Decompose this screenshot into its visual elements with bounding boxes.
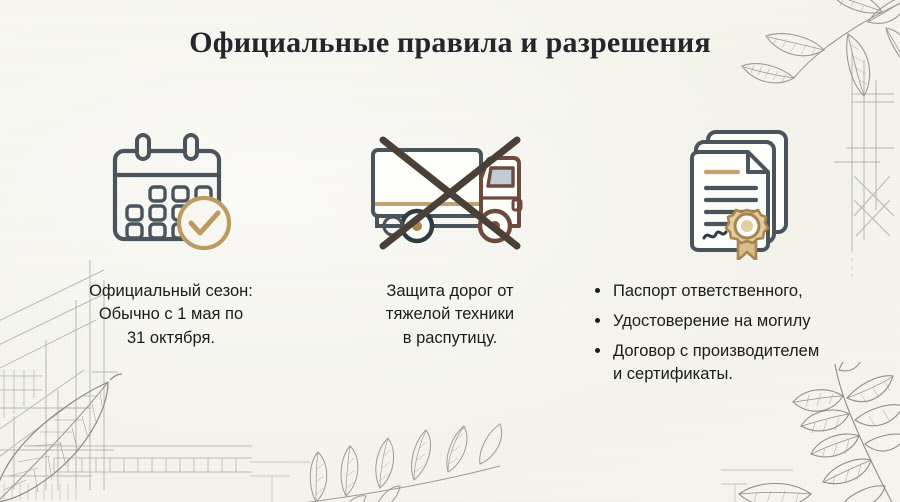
list-item: Удостоверение на могилу: [594, 310, 880, 333]
caption-road-protection: Защита дорог от тяжелой техники в распут…: [386, 280, 514, 350]
leaf-branch-top-right-icon: [740, 0, 900, 134]
calendar-check-icon-wrap: [103, 118, 239, 268]
certificate-documents-icon: [676, 126, 798, 260]
list-item-label: Договор с производителем и сертификаты.: [613, 340, 819, 386]
column-season: Официальный сезон: Обычно с 1 мая по 31 …: [36, 118, 306, 350]
calendar-check-icon: [103, 131, 239, 255]
list-item-label: Удостоверение на могилу: [613, 312, 811, 330]
requirements-bullet-list: Паспорт ответственного, Удостоверение на…: [594, 280, 880, 393]
certificate-documents-icon-wrap: [594, 118, 880, 268]
column-road-protection: Защита дорог от тяжелой техники в распут…: [315, 118, 585, 350]
ruler-scale-bottom-left-icon: [24, 438, 254, 484]
bullet-dot-icon: [595, 288, 600, 293]
content-columns: Официальный сезон: Обычно с 1 мая по 31 …: [36, 118, 864, 393]
bullet-dot-icon: [595, 318, 600, 323]
slide-canvas: Официальные правила и разрешения: [0, 0, 900, 502]
list-item-label: Паспорт ответственного,: [613, 282, 803, 300]
caption-season: Официальный сезон: Обычно с 1 мая по 31 …: [89, 280, 253, 350]
column-requirements: Паспорт ответственного, Удостоверение на…: [594, 118, 864, 393]
list-item: Договор с производителем и сертификаты.: [594, 340, 880, 386]
no-truck-icon: [367, 134, 533, 252]
bullet-dot-icon: [595, 348, 600, 353]
list-item: Паспорт ответственного,: [594, 280, 880, 303]
page-title: Официальные правила и разрешения: [0, 26, 900, 60]
leaf-branch-bottom-center-icon: [250, 406, 550, 502]
no-truck-icon-wrap: [367, 118, 533, 268]
